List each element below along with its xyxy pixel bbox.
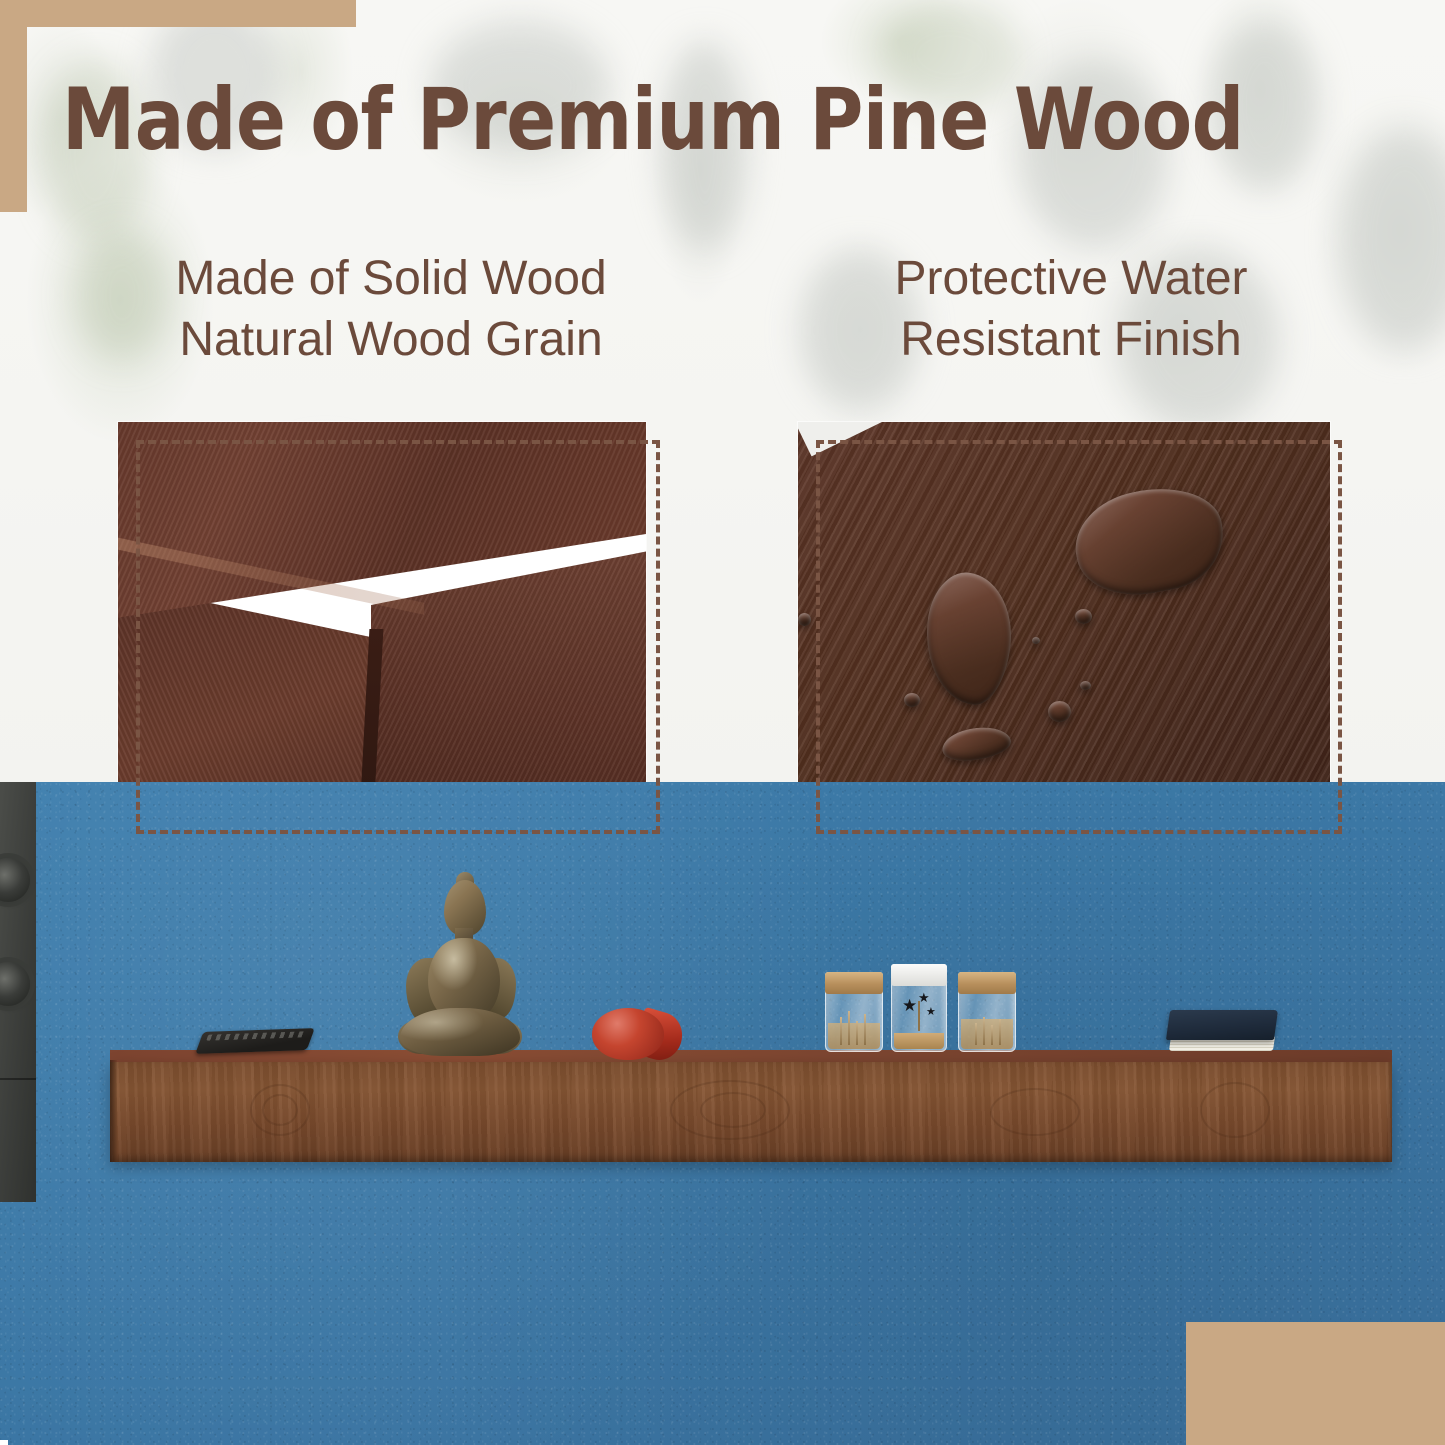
- feature-image-water-resistant: [798, 422, 1330, 820]
- page-title: Made of Premium Pine Wood: [62, 75, 1326, 165]
- speaker-driver-icon: [0, 858, 30, 902]
- product-feature-infographic: Made of Premium Pine Wood Made of Solid …: [0, 0, 1445, 1445]
- tv-remote-control: [195, 1028, 315, 1054]
- water-droplet-small: [1080, 681, 1091, 691]
- corner-bracket-vertical: [0, 0, 27, 212]
- water-droplet-small: [798, 613, 811, 626]
- water-droplet-small: [1032, 637, 1039, 644]
- water-droplets-illustration: [798, 422, 1330, 820]
- glass-jar-sand-right: [958, 972, 1016, 1052]
- water-droplet-small: [1075, 609, 1092, 624]
- feature-heading-left-line2: Natural Wood Grain: [118, 309, 664, 370]
- star-icon: ★: [926, 1007, 936, 1018]
- star-icon: ★: [902, 997, 917, 1014]
- feature-heading-left: Made of Solid Wood Natural Wood Grain: [118, 248, 664, 371]
- corner-bracket-horizontal: [0, 0, 356, 27]
- speaker-cabinet: [0, 782, 36, 1202]
- feature-heading-right-line1: Protective Water: [798, 248, 1344, 309]
- feature-heading-right-line2: Resistant Finish: [798, 309, 1344, 370]
- bronze-buddha-statue: [398, 880, 522, 1055]
- corner-block-bottom-right: [1186, 1322, 1445, 1445]
- red-decorative-sculpture: [592, 1008, 682, 1060]
- feature-heading-right: Protective Water Resistant Finish: [798, 248, 1344, 371]
- wood-corner-illustration: [118, 422, 646, 820]
- glass-jar-cork-left: [825, 972, 883, 1052]
- glass-jar-stars-center: ★ ★ ★: [891, 964, 947, 1052]
- speaker-driver-icon: [0, 962, 30, 1006]
- navy-hardcover-book: [1168, 1010, 1276, 1054]
- floating-wood-shelf: [110, 1050, 1392, 1162]
- feature-image-solid-wood: [118, 422, 646, 820]
- feature-heading-left-line1: Made of Solid Wood: [118, 248, 664, 309]
